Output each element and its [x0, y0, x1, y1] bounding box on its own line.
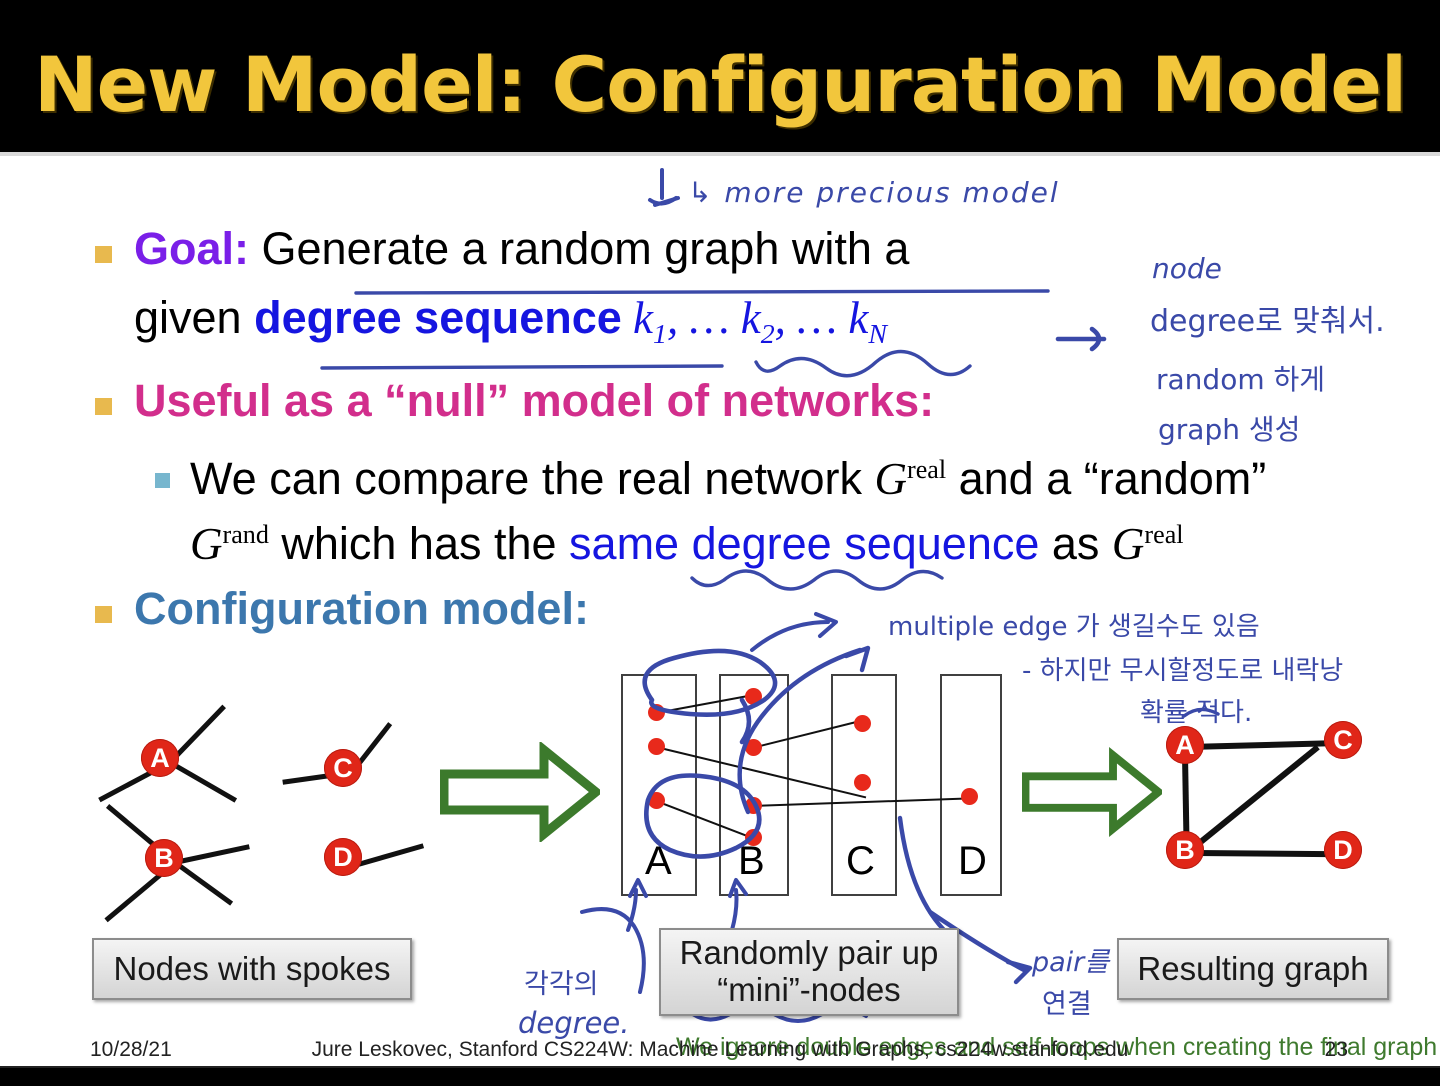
- goal-given: given: [134, 292, 254, 343]
- caption-randomly-pair-up: Randomly pair up “mini”-nodes: [659, 928, 959, 1016]
- g-rand: Grand: [190, 519, 269, 569]
- bullet-square-icon: [95, 246, 112, 263]
- footer-page-number: 23: [1325, 1038, 1348, 1062]
- goal-line-2: given degree sequence k1, … k2, … kN: [134, 295, 909, 349]
- bullet-square-sub-icon: [155, 473, 170, 488]
- useful-text: Useful as a “null” model of networks:: [134, 378, 934, 425]
- handwriting-pair-note-1: pair를: [1032, 940, 1109, 979]
- compare-line-2: Grand which has the same degree sequence…: [190, 521, 1266, 568]
- handwriting-top-note: ↳ more precious model: [688, 176, 1060, 209]
- compare-mid-2: which has the: [269, 518, 569, 569]
- footer-attribution: Jure Leskovec, Stanford CS224W: Machine …: [0, 1038, 1440, 1062]
- handwriting-mid-note-3: 확률 적다.: [1140, 692, 1252, 729]
- sub-bullet-compare: We can compare the real network Greal an…: [155, 456, 1266, 568]
- bullet-square-icon: [95, 398, 112, 415]
- caption-nodes-with-spokes: Nodes with spokes: [92, 938, 412, 1000]
- g-real-2: Greal: [1112, 519, 1184, 569]
- footer-black-band: [0, 1068, 1440, 1086]
- compare-pre: We can compare the real network: [190, 453, 875, 504]
- compare-mid: and a “random”: [946, 453, 1266, 504]
- bullet-configuration-model: Configuration model:: [95, 586, 589, 633]
- caption-mid-line-2: “mini”-nodes: [717, 972, 900, 1009]
- bullet-square-icon: [95, 606, 112, 623]
- handwriting-right-note-4: graph 생성: [1158, 408, 1300, 448]
- degree-sequence-values: k1, … k2, … kN: [622, 293, 887, 343]
- handwriting-right-note-2: degree로 맞춰서.: [1150, 296, 1385, 340]
- handwriting-bottom-note-2: degree.: [518, 1006, 629, 1040]
- compare-post: as: [1039, 518, 1112, 569]
- handwriting-pair-note-2: 연결: [1042, 982, 1092, 1021]
- handwriting-mid-note-2: - 하지만 무시할정도로 내락낭: [1022, 650, 1343, 687]
- goal-label: Goal:: [134, 223, 249, 274]
- same-degree-sequence-text: same degree sequence: [569, 518, 1039, 569]
- goal-rest: Generate a random graph with a: [249, 223, 909, 274]
- caption-mid-line-1: Randomly pair up: [680, 935, 939, 972]
- compare-line-1: We can compare the real network Greal an…: [190, 456, 1266, 503]
- g-real-1: Greal: [875, 454, 947, 504]
- bullet-useful: Useful as a “null” model of networks:: [95, 378, 934, 425]
- page-title: New Model: Configuration Model: [0, 40, 1440, 129]
- goal-line-1: Goal: Generate a random graph with a: [134, 226, 909, 273]
- handwriting-right-note-1: node: [1152, 252, 1222, 285]
- handwriting-mid-note-1: multiple edge 가 생길수도 있음: [888, 606, 1260, 643]
- slide: New Model: Configuration Model Goal: Gen…: [0, 0, 1440, 1086]
- configuration-model-text: Configuration model:: [134, 586, 589, 633]
- bullet-goal: Goal: Generate a random graph with a giv…: [95, 226, 909, 349]
- handwriting-bottom-note-1: 각각의: [524, 962, 599, 1001]
- handwriting-right-note-3: random 하게: [1156, 358, 1325, 398]
- caption-resulting-graph: Resulting graph: [1117, 938, 1389, 1000]
- degree-sequence-label: degree sequence: [254, 292, 622, 343]
- title-bar: New Model: Configuration Model: [0, 0, 1440, 152]
